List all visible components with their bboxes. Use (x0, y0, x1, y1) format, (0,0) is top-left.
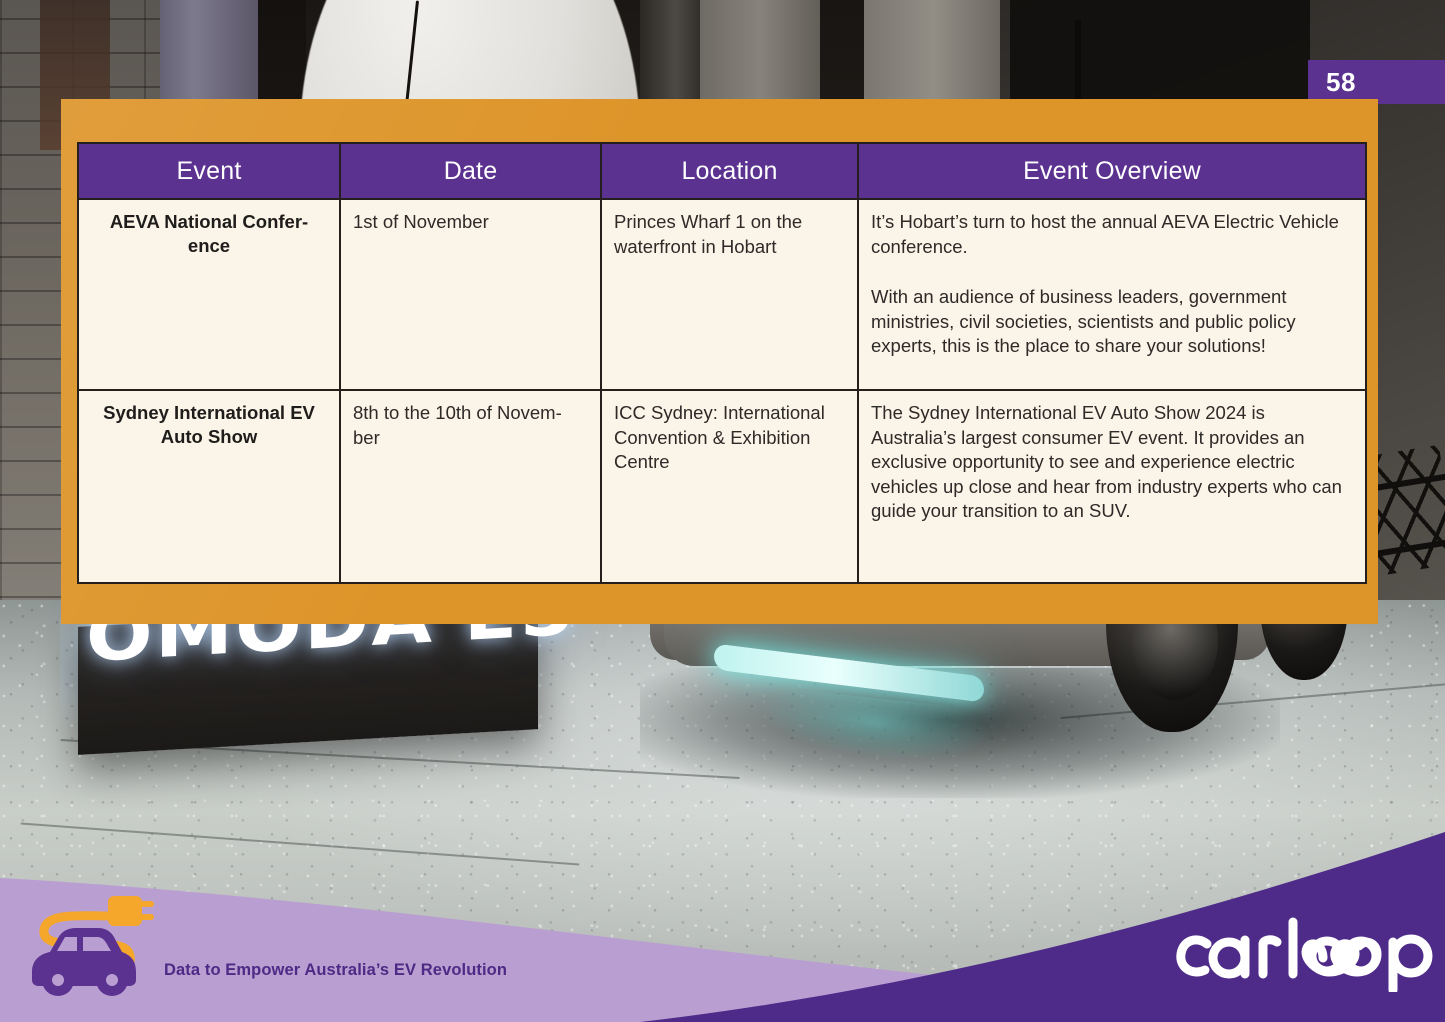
car-hubcap-icon (52, 974, 64, 986)
slide-canvas: OMODA E5 OMODA E5 58 Event Date Location… (0, 0, 1445, 1022)
cell-date: 1st of November (341, 200, 602, 389)
ev-charging-icon (18, 886, 166, 998)
content-panel: Event Date Location Event Overview AEVA … (61, 99, 1378, 624)
event-overview-paragraph: With an audience of business leaders, go… (871, 285, 1353, 359)
event-location: ICC Sydney: International Convention & E… (614, 401, 845, 475)
page-number-badge: 58 (1308, 60, 1445, 104)
column-header-location: Location (602, 144, 859, 198)
cell-event-overview: The Sydney International EV Auto Show 20… (859, 391, 1365, 582)
footer-tagline: Data to Empower Australia’s EV Revolutio… (164, 961, 507, 980)
plug-prong-icon (140, 901, 154, 907)
carloop-logo (1171, 916, 1439, 992)
table-row: AEVA National Confer- ence 1st of Novemb… (79, 200, 1365, 391)
plug-prong-icon (140, 914, 154, 920)
car-hubcap-icon (106, 974, 118, 986)
event-overview-paragraph: The Sydney International EV Auto Show 20… (871, 401, 1353, 524)
page-number: 58 (1326, 67, 1356, 98)
table-header-row: Event Date Location Event Overview (79, 144, 1365, 200)
event-name: Sydney International EV Auto Show (91, 401, 327, 450)
event-location: Princes Wharf 1 on the waterfront in Hob… (614, 210, 845, 259)
cell-event: Sydney International EV Auto Show (79, 391, 341, 582)
event-overview-paragraph: It’s Hobart’s turn to host the annual AE… (871, 210, 1353, 259)
table-row: Sydney International EV Auto Show 8th to… (79, 391, 1365, 582)
event-name: AEVA National Confer- ence (91, 210, 327, 259)
cell-location: ICC Sydney: International Convention & E… (602, 391, 859, 582)
cell-event-overview: It’s Hobart’s turn to host the annual AE… (859, 200, 1365, 389)
event-date: 8th to the 10th of Novem- ber (353, 401, 588, 450)
events-table: Event Date Location Event Overview AEVA … (77, 142, 1367, 584)
column-header-event-overview: Event Overview (859, 144, 1365, 198)
column-header-date: Date (341, 144, 602, 198)
event-date: 1st of November (353, 210, 588, 235)
column-header-event: Event (79, 144, 341, 198)
cell-date: 8th to the 10th of Novem- ber (341, 391, 602, 582)
cell-event: AEVA National Confer- ence (79, 200, 341, 389)
plug-head-icon (108, 896, 142, 926)
cell-location: Princes Wharf 1 on the waterfront in Hob… (602, 200, 859, 389)
